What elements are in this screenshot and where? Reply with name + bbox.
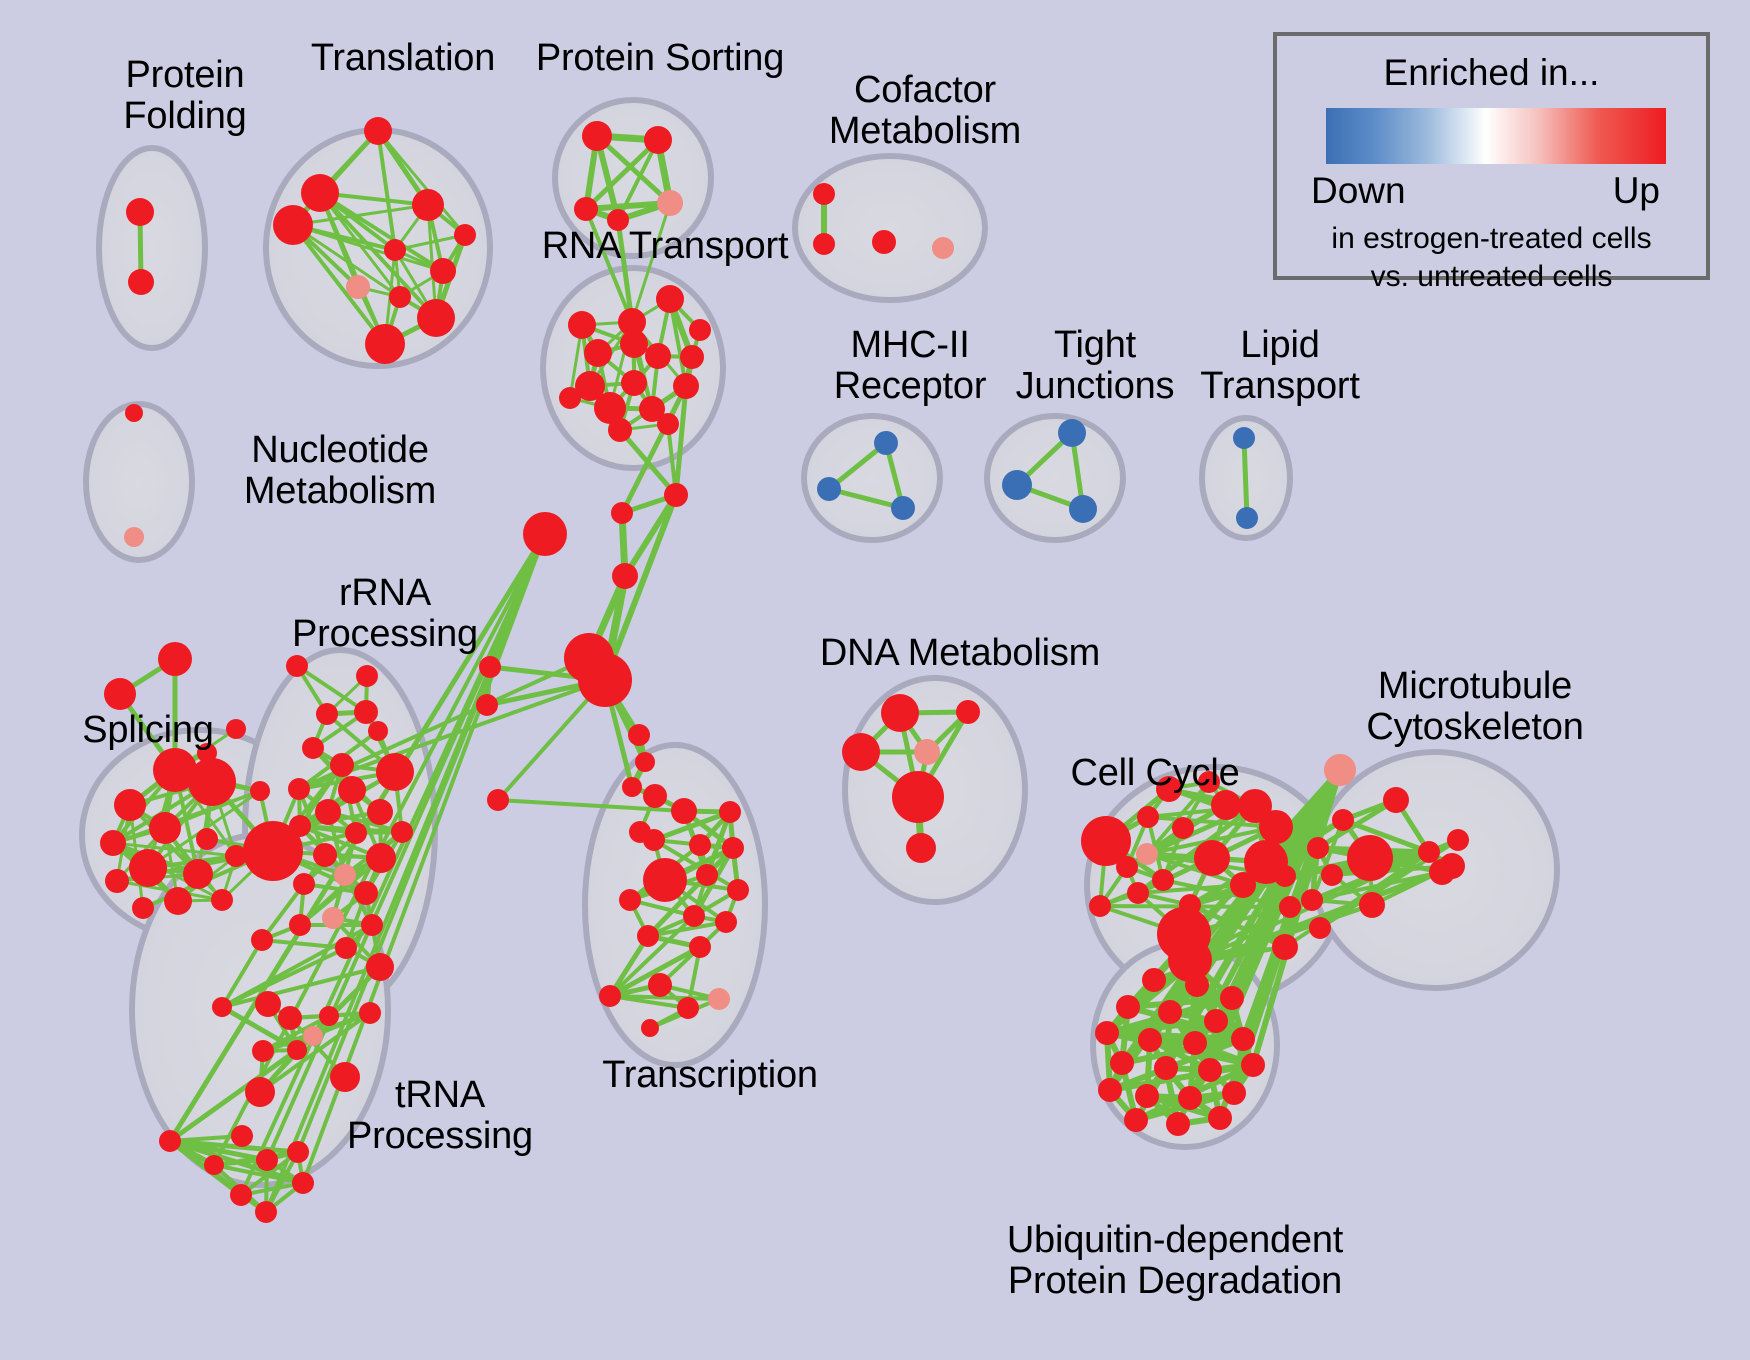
network-node[interactable] bbox=[366, 843, 396, 873]
network-node[interactable] bbox=[620, 330, 648, 358]
cluster-label-rrna-processing: rRNA Processing bbox=[250, 573, 520, 655]
network-node[interactable] bbox=[367, 799, 393, 825]
network-node[interactable] bbox=[656, 285, 684, 313]
network-node[interactable] bbox=[1124, 1108, 1148, 1132]
network-node[interactable] bbox=[891, 496, 915, 520]
network-node[interactable] bbox=[334, 864, 356, 886]
network-node[interactable] bbox=[1154, 1056, 1178, 1080]
network-node[interactable] bbox=[359, 1002, 381, 1024]
network-node[interactable] bbox=[708, 988, 730, 1010]
network-node[interactable] bbox=[664, 483, 688, 507]
network-node[interactable] bbox=[1089, 895, 1111, 917]
network-node[interactable] bbox=[356, 665, 378, 687]
network-node[interactable] bbox=[1185, 973, 1209, 997]
network-node[interactable] bbox=[1307, 837, 1329, 859]
network-node[interactable] bbox=[683, 905, 705, 927]
network-node[interactable] bbox=[129, 849, 167, 887]
network-node[interactable] bbox=[293, 873, 315, 895]
network-node[interactable] bbox=[430, 258, 456, 284]
network-node[interactable] bbox=[1220, 986, 1244, 1010]
network-node[interactable] bbox=[368, 721, 388, 741]
network-node[interactable] bbox=[689, 834, 711, 856]
network-node[interactable] bbox=[1204, 1009, 1228, 1033]
network-node[interactable] bbox=[1231, 1027, 1255, 1051]
network-node[interactable] bbox=[645, 343, 671, 369]
network-node[interactable] bbox=[648, 973, 672, 997]
network-node[interactable] bbox=[643, 829, 665, 851]
network-node[interactable] bbox=[124, 527, 144, 547]
network-node[interactable] bbox=[1158, 1000, 1182, 1024]
network-node[interactable] bbox=[1321, 864, 1343, 886]
network-node[interactable] bbox=[621, 370, 647, 396]
network-node[interactable] bbox=[671, 798, 697, 824]
network-node[interactable] bbox=[315, 799, 341, 825]
network-node[interactable] bbox=[149, 812, 181, 844]
network-node[interactable] bbox=[289, 914, 311, 936]
network-node[interactable] bbox=[628, 724, 650, 746]
network-node[interactable] bbox=[1127, 882, 1149, 904]
network-node[interactable] bbox=[1301, 889, 1323, 911]
network-node[interactable] bbox=[251, 929, 273, 951]
network-node[interactable] bbox=[417, 299, 455, 337]
network-node[interactable] bbox=[559, 387, 581, 409]
cluster-label-rna-transport: RNA Transport bbox=[505, 226, 825, 267]
network-node[interactable] bbox=[301, 174, 339, 212]
legend-subtitle-line-1: in estrogen-treated cells bbox=[1277, 222, 1706, 256]
network-node[interactable] bbox=[354, 700, 378, 724]
network-node[interactable] bbox=[657, 190, 683, 216]
cluster-label-splicing: Splicing bbox=[48, 710, 248, 751]
network-node[interactable] bbox=[289, 815, 311, 837]
network-node[interactable] bbox=[1138, 1028, 1162, 1052]
cluster-label-protein-folding: Protein Folding bbox=[80, 55, 290, 137]
network-node[interactable] bbox=[391, 821, 413, 843]
network-node[interactable] bbox=[164, 887, 192, 915]
cluster-label-ubiquitin-protein-degradation: Ubiquitin-dependent Protein Degradation bbox=[940, 1220, 1410, 1302]
network-node[interactable] bbox=[643, 858, 687, 902]
network-node[interactable] bbox=[132, 897, 154, 919]
network-edge bbox=[605, 495, 676, 680]
cluster-label-protein-sorting: Protein Sorting bbox=[500, 38, 820, 79]
network-node[interactable] bbox=[183, 859, 213, 889]
network-node[interactable] bbox=[287, 1040, 307, 1060]
network-node[interactable] bbox=[288, 778, 310, 800]
network-node[interactable] bbox=[256, 1149, 278, 1171]
network-node[interactable] bbox=[680, 345, 704, 369]
network-node[interactable] bbox=[335, 937, 357, 959]
network-node[interactable] bbox=[292, 1172, 314, 1194]
network-node[interactable] bbox=[412, 189, 444, 221]
network-node[interactable] bbox=[1183, 1031, 1207, 1055]
network-node[interactable] bbox=[1137, 806, 1159, 828]
network-node[interactable] bbox=[1359, 892, 1385, 918]
network-node[interactable] bbox=[188, 758, 236, 806]
network-node[interactable] bbox=[1098, 1078, 1122, 1102]
network-node[interactable] bbox=[104, 678, 136, 710]
network-node[interactable] bbox=[245, 1077, 275, 1107]
network-node[interactable] bbox=[1383, 787, 1409, 813]
network-node[interactable] bbox=[932, 237, 954, 259]
network-node[interactable] bbox=[1002, 470, 1032, 500]
network-node[interactable] bbox=[1110, 1051, 1134, 1075]
network-node[interactable] bbox=[673, 373, 699, 399]
network-node[interactable] bbox=[365, 324, 405, 364]
network-node[interactable] bbox=[582, 121, 612, 151]
network-node[interactable] bbox=[1274, 865, 1296, 887]
network-node[interactable] bbox=[872, 230, 896, 254]
network-node[interactable] bbox=[1418, 841, 1440, 863]
cluster-label-trna-processing: tRNA Processing bbox=[305, 1075, 575, 1157]
network-node[interactable] bbox=[330, 753, 354, 777]
network-node[interactable] bbox=[384, 239, 406, 261]
network-node[interactable] bbox=[389, 286, 411, 308]
network-node[interactable] bbox=[1181, 952, 1203, 974]
cluster-label-nucleotide-metabolism: Nucleotide Metabolism bbox=[190, 430, 490, 512]
legend-down-label: Down bbox=[1311, 170, 1406, 212]
network-node[interactable] bbox=[1194, 840, 1230, 876]
network-node[interactable] bbox=[584, 339, 612, 367]
network-node[interactable] bbox=[230, 1184, 252, 1206]
network-node[interactable] bbox=[1241, 1053, 1265, 1077]
network-node[interactable] bbox=[319, 1006, 339, 1026]
network-node[interactable] bbox=[366, 953, 394, 981]
network-node[interactable] bbox=[619, 889, 641, 911]
network-node[interactable] bbox=[286, 655, 308, 677]
network-node[interactable] bbox=[479, 656, 501, 678]
network-node[interactable] bbox=[1152, 869, 1174, 891]
network-node[interactable] bbox=[842, 733, 880, 771]
network-node[interactable] bbox=[906, 833, 936, 863]
network-node[interactable] bbox=[1178, 1086, 1202, 1110]
network-node[interactable] bbox=[313, 843, 337, 867]
network-node[interactable] bbox=[255, 991, 281, 1017]
network-node[interactable] bbox=[956, 700, 980, 724]
network-node[interactable] bbox=[105, 869, 129, 893]
network-node[interactable] bbox=[346, 275, 370, 299]
cluster-label-lipid-transport: Lipid Transport bbox=[1165, 325, 1395, 407]
network-node[interactable] bbox=[643, 784, 667, 808]
network-node[interactable] bbox=[881, 694, 919, 732]
network-node[interactable] bbox=[338, 776, 366, 804]
network-node[interactable] bbox=[1116, 856, 1138, 878]
network-node[interactable] bbox=[715, 911, 737, 933]
network-node[interactable] bbox=[612, 563, 638, 589]
network-edge bbox=[1244, 438, 1247, 518]
legend-title: Enriched in... bbox=[1277, 52, 1706, 94]
cluster-ellipse-protein-folding[interactable] bbox=[99, 148, 205, 348]
network-node[interactable] bbox=[1236, 507, 1258, 529]
network-node[interactable] bbox=[252, 1040, 274, 1062]
network-node[interactable] bbox=[1347, 835, 1393, 881]
network-node[interactable] bbox=[1222, 1081, 1246, 1105]
network-node[interactable] bbox=[568, 311, 596, 339]
network-node[interactable] bbox=[644, 126, 672, 154]
network-node[interactable] bbox=[1172, 817, 1194, 839]
network-node[interactable] bbox=[1166, 1112, 1190, 1136]
network-node[interactable] bbox=[302, 737, 324, 759]
network-node[interactable] bbox=[523, 512, 567, 556]
network-node[interactable] bbox=[817, 477, 841, 501]
network-node[interactable] bbox=[231, 1125, 253, 1147]
network-node[interactable] bbox=[892, 771, 944, 823]
network-node[interactable] bbox=[1259, 810, 1293, 844]
network-node[interactable] bbox=[727, 879, 749, 901]
network-node[interactable] bbox=[622, 777, 642, 797]
network-node[interactable] bbox=[1233, 427, 1255, 449]
network-node[interactable] bbox=[1208, 1106, 1232, 1130]
network-node[interactable] bbox=[1135, 1084, 1159, 1108]
cluster-label-transcription: Transcription bbox=[565, 1055, 855, 1096]
network-node[interactable] bbox=[578, 653, 632, 707]
network-node[interactable] bbox=[1211, 790, 1241, 820]
network-node[interactable] bbox=[1069, 495, 1097, 523]
cluster-label-cofactor-metabolism: Cofactor Metabolism bbox=[790, 70, 1060, 152]
network-node[interactable] bbox=[364, 117, 392, 145]
enrichment-map-figure: Protein FoldingTranslationProtein Sortin… bbox=[0, 0, 1750, 1360]
network-node[interactable] bbox=[574, 197, 598, 221]
legend-box: Enriched in... Down Up in estrogen-treat… bbox=[1273, 32, 1710, 280]
network-node[interactable] bbox=[689, 319, 711, 341]
cluster-label-microtubule-cytoskeleton: Microtubule Cytoskeleton bbox=[1310, 666, 1640, 748]
network-node[interactable] bbox=[677, 997, 699, 1019]
network-node[interactable] bbox=[255, 1201, 277, 1223]
cluster-label-translation: Translation bbox=[278, 38, 528, 79]
network-node[interactable] bbox=[1116, 995, 1140, 1019]
network-node[interactable] bbox=[1272, 934, 1298, 960]
cluster-label-cell-cycle: Cell Cycle bbox=[1035, 753, 1275, 794]
network-node[interactable] bbox=[345, 822, 367, 844]
network-node[interactable] bbox=[273, 205, 313, 245]
network-node[interactable] bbox=[722, 837, 744, 859]
network-node[interactable] bbox=[125, 404, 143, 422]
network-node[interactable] bbox=[114, 789, 146, 821]
network-node[interactable] bbox=[211, 889, 233, 911]
network-node[interactable] bbox=[1230, 872, 1256, 898]
cluster-label-dna-metabolism: DNA Metabolism bbox=[800, 633, 1120, 674]
network-node[interactable] bbox=[322, 907, 344, 929]
network-node[interactable] bbox=[1429, 859, 1455, 885]
network-node[interactable] bbox=[689, 936, 711, 958]
network-node[interactable] bbox=[212, 997, 232, 1017]
network-node[interactable] bbox=[128, 269, 154, 295]
network-node[interactable] bbox=[1095, 1021, 1119, 1045]
legend-subtitle-line-2: vs. untreated cells bbox=[1277, 260, 1706, 294]
network-node[interactable] bbox=[278, 1006, 302, 1030]
network-node[interactable] bbox=[1198, 1058, 1222, 1082]
network-node[interactable] bbox=[100, 830, 126, 856]
network-node[interactable] bbox=[196, 828, 218, 850]
network-node[interactable] bbox=[611, 502, 633, 524]
network-node[interactable] bbox=[303, 1026, 323, 1046]
network-node[interactable] bbox=[641, 1019, 659, 1037]
network-node[interactable] bbox=[158, 642, 192, 676]
network-node[interactable] bbox=[1136, 843, 1158, 865]
network-node[interactable] bbox=[316, 703, 338, 725]
network-node[interactable] bbox=[1142, 968, 1166, 992]
network-node[interactable] bbox=[159, 1130, 181, 1152]
network-node[interactable] bbox=[354, 881, 378, 905]
network-node[interactable] bbox=[250, 781, 270, 801]
network-node[interactable] bbox=[361, 914, 383, 936]
network-node[interactable] bbox=[696, 864, 718, 886]
network-node[interactable] bbox=[874, 431, 898, 455]
network-node[interactable] bbox=[719, 801, 741, 823]
network-node[interactable] bbox=[1058, 419, 1086, 447]
network-node[interactable] bbox=[657, 413, 679, 435]
network-node[interactable] bbox=[1447, 829, 1469, 851]
network-node[interactable] bbox=[1279, 896, 1301, 918]
legend-up-label: Up bbox=[1613, 170, 1660, 212]
network-node[interactable] bbox=[1332, 809, 1354, 831]
network-node[interactable] bbox=[599, 985, 621, 1007]
network-node[interactable] bbox=[813, 183, 835, 205]
network-node[interactable] bbox=[1309, 917, 1331, 939]
network-node[interactable] bbox=[914, 739, 940, 765]
network-node[interactable] bbox=[487, 789, 509, 811]
network-node[interactable] bbox=[608, 418, 632, 442]
network-node[interactable] bbox=[204, 1155, 224, 1175]
legend-color-gradient-bar bbox=[1326, 108, 1666, 164]
network-node[interactable] bbox=[637, 925, 659, 947]
network-node[interactable] bbox=[635, 752, 655, 772]
network-node[interactable] bbox=[376, 753, 414, 791]
network-node[interactable] bbox=[126, 198, 154, 226]
network-node[interactable] bbox=[454, 224, 476, 246]
network-node[interactable] bbox=[476, 694, 498, 716]
network-node[interactable] bbox=[1324, 754, 1356, 786]
